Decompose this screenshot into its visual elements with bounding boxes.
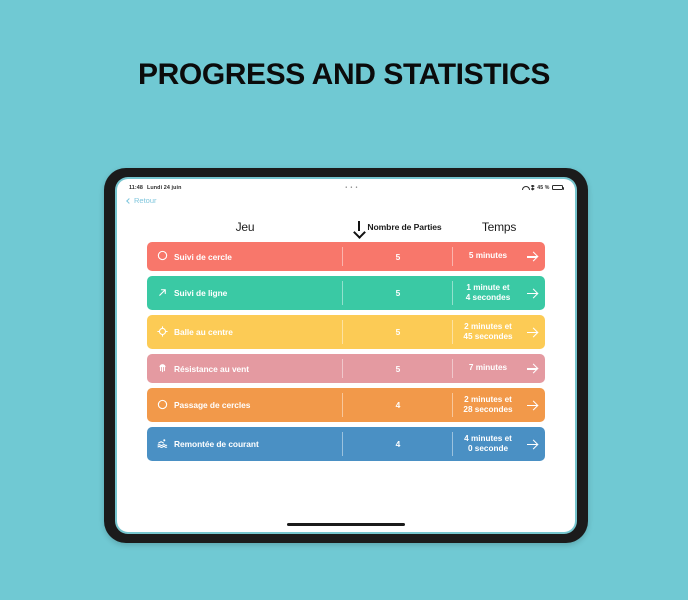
table-row[interactable]: Passage de cercles42 minutes et28 second… xyxy=(147,388,545,422)
table-body: Suivi de cercle55 minutesSuivi de ligne5… xyxy=(147,242,545,461)
wind-icon xyxy=(157,362,168,375)
column-header-count[interactable]: Nombre de Parties xyxy=(343,221,453,234)
back-button-label: Retour xyxy=(134,196,157,205)
row-time-cell: 5 minutes xyxy=(453,242,519,271)
row-count-cell: 5 xyxy=(343,276,453,310)
tablet-device-frame: 11:48 Lundi 24 juin • • • 45 % Retour Je… xyxy=(104,168,588,543)
row-time-cell: 1 minute et4 secondes xyxy=(453,276,519,310)
row-time-line-2: 4 secondes xyxy=(466,293,511,302)
row-detail-button[interactable] xyxy=(519,242,545,271)
crosshair-target-icon xyxy=(157,326,168,339)
row-detail-button[interactable] xyxy=(519,315,545,349)
status-bar-date: Lundi 24 juin xyxy=(147,185,182,191)
row-time-cell: 4 minutes et0 seconde xyxy=(453,427,519,461)
status-bar-time: 11:48 xyxy=(129,185,143,191)
table-row[interactable]: Suivi de cercle55 minutes xyxy=(147,242,545,271)
row-time-line-1: 4 minutes et xyxy=(464,434,512,443)
bluetooth-icon xyxy=(531,185,535,191)
diagonal-arrow-icon xyxy=(157,287,168,300)
table-row[interactable]: Résistance au vent57 minutes xyxy=(147,354,545,383)
row-game-cell: Résistance au vent xyxy=(147,354,343,383)
row-detail-button[interactable] xyxy=(519,354,545,383)
row-time-cell: 2 minutes et28 secondes xyxy=(453,388,519,422)
row-time-line-2: 28 secondes xyxy=(463,405,512,414)
arrow-right-icon xyxy=(527,439,538,450)
column-header-time[interactable]: Temps xyxy=(453,220,545,234)
column-header-game[interactable]: Jeu xyxy=(147,220,343,234)
row-time-line-1: 1 minute et xyxy=(466,283,509,292)
row-game-cell: Suivi de cercle xyxy=(147,242,343,271)
chevron-left-icon xyxy=(126,198,132,204)
row-time-line-2: 0 seconde xyxy=(468,444,508,453)
row-game-label: Résistance au vent xyxy=(174,364,249,374)
arrow-right-icon xyxy=(527,251,538,262)
statistics-table: Jeu Nombre de Parties Temps Suivi de cer… xyxy=(147,215,545,466)
row-detail-button[interactable] xyxy=(519,427,545,461)
table-row[interactable]: Balle au centre52 minutes et45 secondes xyxy=(147,315,545,349)
row-detail-button[interactable] xyxy=(519,388,545,422)
status-bar-left: 11:48 Lundi 24 juin xyxy=(129,185,182,191)
row-game-label: Remontée de courant xyxy=(174,439,259,449)
row-count-cell: 5 xyxy=(343,315,453,349)
row-detail-button[interactable] xyxy=(519,276,545,310)
row-game-cell: Balle au centre xyxy=(147,315,343,349)
row-time-cell: 2 minutes et45 secondes xyxy=(453,315,519,349)
row-game-cell: Remontée de courant xyxy=(147,427,343,461)
ios-status-bar: 11:48 Lundi 24 juin • • • 45 % xyxy=(117,181,575,194)
wifi-icon xyxy=(522,185,528,190)
arrow-right-icon xyxy=(527,327,538,338)
table-header-row: Jeu Nombre de Parties Temps xyxy=(147,215,545,239)
arrow-right-icon xyxy=(527,288,538,299)
circle-outline-icon xyxy=(157,399,168,412)
row-game-cell: Suivi de ligne xyxy=(147,276,343,310)
row-count-cell: 5 xyxy=(343,354,453,383)
back-button[interactable]: Retour xyxy=(127,196,157,205)
row-game-cell: Passage de cercles xyxy=(147,388,343,422)
row-time-line-1: 7 minutes xyxy=(469,363,507,372)
column-header-count-label: Nombre de Parties xyxy=(367,222,441,232)
battery-percent-label: 45 % xyxy=(537,185,549,191)
row-count-cell: 5 xyxy=(343,242,453,271)
arrow-right-icon xyxy=(527,363,538,374)
row-time-line-1: 2 minutes et xyxy=(464,395,512,404)
row-time-line-1: 5 minutes xyxy=(469,251,507,260)
row-game-label: Suivi de ligne xyxy=(174,288,227,298)
status-bar-right: 45 % xyxy=(522,185,563,191)
table-row[interactable]: Suivi de ligne51 minute et4 secondes xyxy=(147,276,545,310)
battery-icon xyxy=(552,185,563,191)
row-time-line-1: 2 minutes et xyxy=(464,322,512,331)
row-game-label: Suivi de cercle xyxy=(174,252,232,262)
row-game-label: Balle au centre xyxy=(174,327,233,337)
arrow-right-icon xyxy=(527,400,538,411)
circle-outline-icon xyxy=(157,250,168,263)
tablet-screen: 11:48 Lundi 24 juin • • • 45 % Retour Je… xyxy=(117,179,575,532)
swimmer-current-icon xyxy=(157,438,168,451)
row-time-cell: 7 minutes xyxy=(453,354,519,383)
row-game-label: Passage de cercles xyxy=(174,400,250,410)
row-time-line-2: 45 secondes xyxy=(463,332,512,341)
page-title: PROGRESS AND STATISTICS xyxy=(0,58,688,92)
table-row[interactable]: Remontée de courant44 minutes et0 second… xyxy=(147,427,545,461)
sort-descending-arrow-icon xyxy=(354,221,364,234)
status-bar-center-dots: • • • xyxy=(182,185,523,191)
row-count-cell: 4 xyxy=(343,427,453,461)
row-count-cell: 4 xyxy=(343,388,453,422)
home-indicator xyxy=(287,523,405,526)
